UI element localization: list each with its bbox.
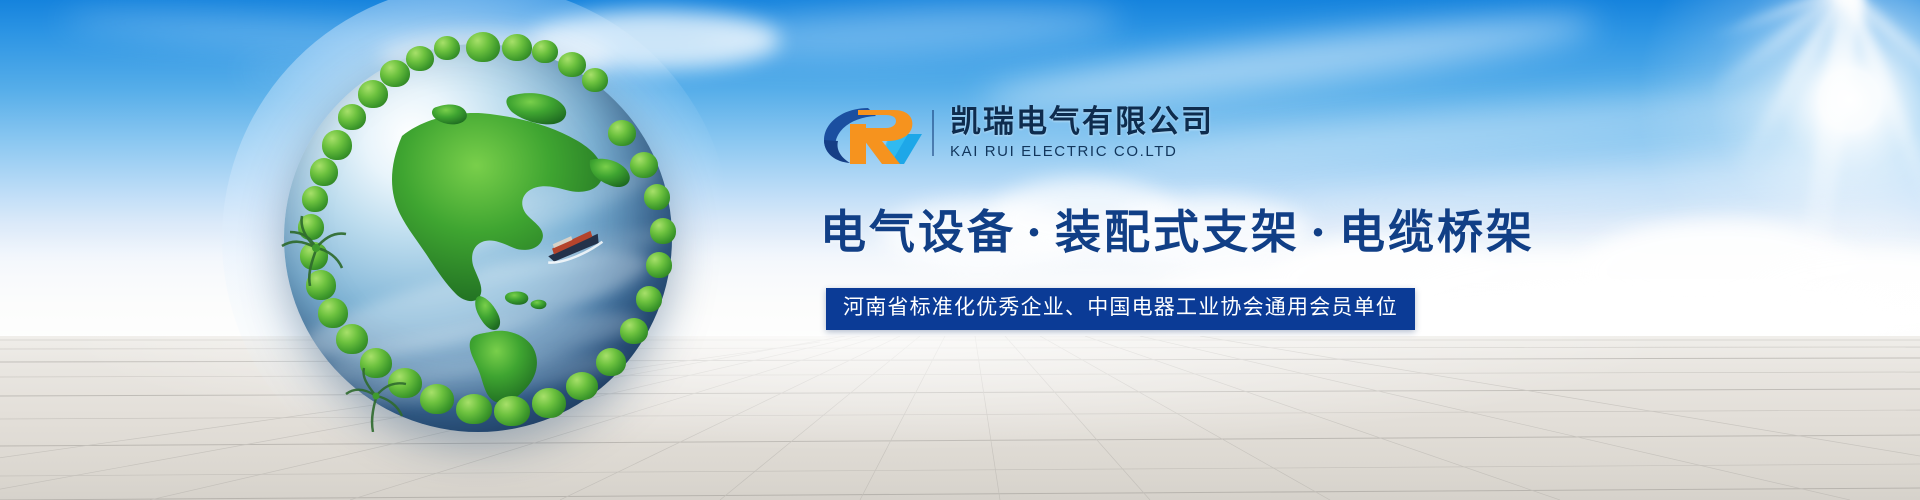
tree-icon [358, 80, 388, 108]
brand-lockup: 凯瑞电气有限公司 KAI RUI ELECTRIC CO.LTD [820, 96, 1580, 170]
tree-icon [434, 36, 460, 60]
credentials-text: 河南省标准化优秀企业、中国电器工业协会通用会员单位 [843, 295, 1398, 319]
tree-icon [310, 158, 338, 186]
banner-content: 凯瑞电气有限公司 KAI RUI ELECTRIC CO.LTD 电气设备·装配… [820, 96, 1580, 406]
brand-divider [932, 110, 934, 156]
tree-icon [338, 104, 366, 130]
main-slogan: 电气设备·装配式支架·电缆桥架 [820, 196, 1580, 262]
slogan-part-1: 电气设备 [820, 205, 1016, 259]
slogan-separator: · [1300, 205, 1339, 259]
company-name-cn: 凯瑞电气有限公司 [950, 106, 1214, 139]
tree-icon [420, 384, 454, 414]
tree-icon [646, 252, 672, 278]
company-name-en: KAI RUI ELECTRIC CO.LTD [950, 143, 1214, 160]
slogan-part-3: 电缆桥架 [1339, 205, 1535, 259]
tree-icon [558, 52, 586, 77]
palm-tree-icon [280, 206, 350, 291]
hero-banner: 凯瑞电气有限公司 KAI RUI ELECTRIC CO.LTD 电气设备·装配… [0, 0, 1920, 500]
tree-icon [582, 68, 608, 92]
slogan-separator: · [1016, 205, 1055, 259]
tree-icon [532, 388, 566, 418]
tree-icon [636, 286, 662, 312]
slogan-part-2: 装配式支架 [1055, 205, 1300, 259]
tree-icon [380, 60, 410, 87]
tree-ring [270, 30, 686, 446]
tree-icon [318, 298, 348, 328]
tree-icon [566, 372, 598, 400]
tree-icon [502, 34, 532, 61]
green-earth-globe [262, 24, 692, 454]
tree-icon [466, 32, 500, 62]
kai-rui-cr-monogram-icon [820, 100, 926, 166]
tree-icon [456, 394, 492, 424]
tree-icon [608, 120, 636, 146]
brand-names: 凯瑞电气有限公司 KAI RUI ELECTRIC CO.LTD [950, 106, 1214, 161]
tree-icon [336, 324, 368, 354]
tree-icon [630, 152, 658, 178]
tree-icon [494, 396, 530, 426]
credentials-ribbon: 河南省标准化优秀企业、中国电器工业协会通用会员单位 [826, 288, 1415, 330]
tree-icon [532, 40, 558, 63]
tree-icon [322, 130, 352, 160]
tree-icon [596, 348, 626, 376]
tree-icon [644, 184, 670, 210]
tree-icon [406, 46, 434, 71]
palm-tree-icon [344, 360, 408, 437]
tree-icon [620, 318, 648, 344]
tree-icon [650, 218, 676, 244]
